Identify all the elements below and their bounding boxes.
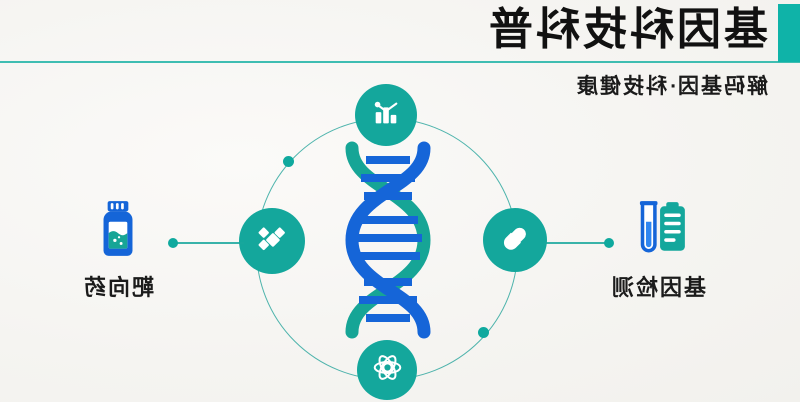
molecule-icon <box>256 223 288 260</box>
medicine-bottle-icon <box>38 196 198 262</box>
orbit-dot-lower-right <box>478 327 489 338</box>
infographic-banner: 基因科技科普 解码基因·科技健康 <box>0 0 800 402</box>
atom-icon <box>372 352 403 388</box>
page-title: 基因科技科普 <box>486 2 768 58</box>
node-molecule[interactable] <box>239 208 305 274</box>
dna-double-helix-icon <box>328 140 448 340</box>
bar-chart-icon <box>371 98 401 133</box>
node-science[interactable] <box>357 340 417 400</box>
page-subtitle: 解码基因·科技健康 <box>575 72 768 102</box>
orbit-dot-upper-left <box>283 156 294 167</box>
side-item-label-targeted-drug: 靶向药 <box>38 270 198 302</box>
header-divider-line <box>0 61 800 63</box>
capsule-pill-icon <box>499 222 531 259</box>
corner-accent-bar <box>778 4 800 62</box>
node-analytics[interactable] <box>355 84 417 146</box>
test-tube-clipboard-icon <box>578 196 738 262</box>
side-item-gene-testing[interactable]: 基因检测 <box>578 196 738 302</box>
side-item-label-gene-testing: 基因检测 <box>578 270 738 302</box>
node-medication[interactable] <box>483 208 547 272</box>
side-item-targeted-drug[interactable]: 靶向药 <box>38 196 198 302</box>
